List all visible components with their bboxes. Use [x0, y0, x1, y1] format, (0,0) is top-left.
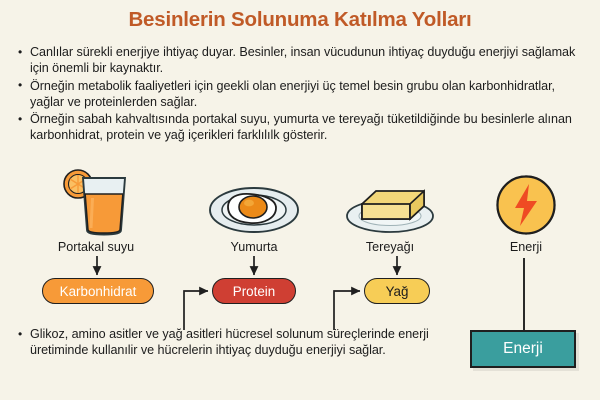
food-group-energy: Enerji [456, 168, 596, 255]
food-label-energy: Enerji [456, 240, 596, 255]
lightning-bolt-circle-icon [456, 168, 596, 236]
list-item: Örneğin metabolik faaliyetleri için geek… [16, 78, 588, 111]
nutrient-pill-label: Protein [233, 284, 275, 299]
orange-juice-glass-icon [26, 168, 166, 236]
food-group-egg: Yumurta [184, 168, 324, 255]
food-label-juice: Portakal suyu [26, 240, 166, 255]
infographic-canvas: Besinlerin Solunuma Katılma Yolları Canl… [0, 0, 600, 400]
list-item: Örneğin sabah kahvaltısında portakal suy… [16, 111, 588, 144]
list-item: Glikoz, amino asitler ve yağ asitleri hü… [16, 326, 446, 359]
energy-output-label: Enerji [503, 340, 543, 358]
page-title: Besinlerin Solunuma Katılma Yolları [0, 8, 600, 32]
butter-block-plate-icon [320, 168, 460, 236]
nutrient-pill-fat[interactable]: Yağ [364, 278, 430, 304]
food-group-juice: Portakal suyu [26, 168, 166, 255]
list-item: Canlılar sürekli enerjiye ihtiyaç duyar.… [16, 44, 588, 77]
food-label-butter: Tereyağı [320, 240, 460, 255]
bottom-bullet-list: Glikoz, amino asitler ve yağ asitleri hü… [16, 326, 446, 360]
nutrient-pill-carbohydrate[interactable]: Karbonhidrat [42, 278, 154, 304]
top-bullet-list: Canlılar sürekli enerjiye ihtiyaç duyar.… [16, 44, 588, 145]
food-group-butter: Tereyağı [320, 168, 460, 255]
nutrient-pill-protein[interactable]: Protein [212, 278, 296, 304]
nutrient-pill-label: Yağ [386, 284, 409, 299]
food-label-egg: Yumurta [184, 240, 324, 255]
nutrient-pill-label: Karbonhidrat [60, 284, 137, 299]
fried-egg-plate-icon [184, 168, 324, 236]
energy-output-box: Enerji [470, 330, 576, 368]
